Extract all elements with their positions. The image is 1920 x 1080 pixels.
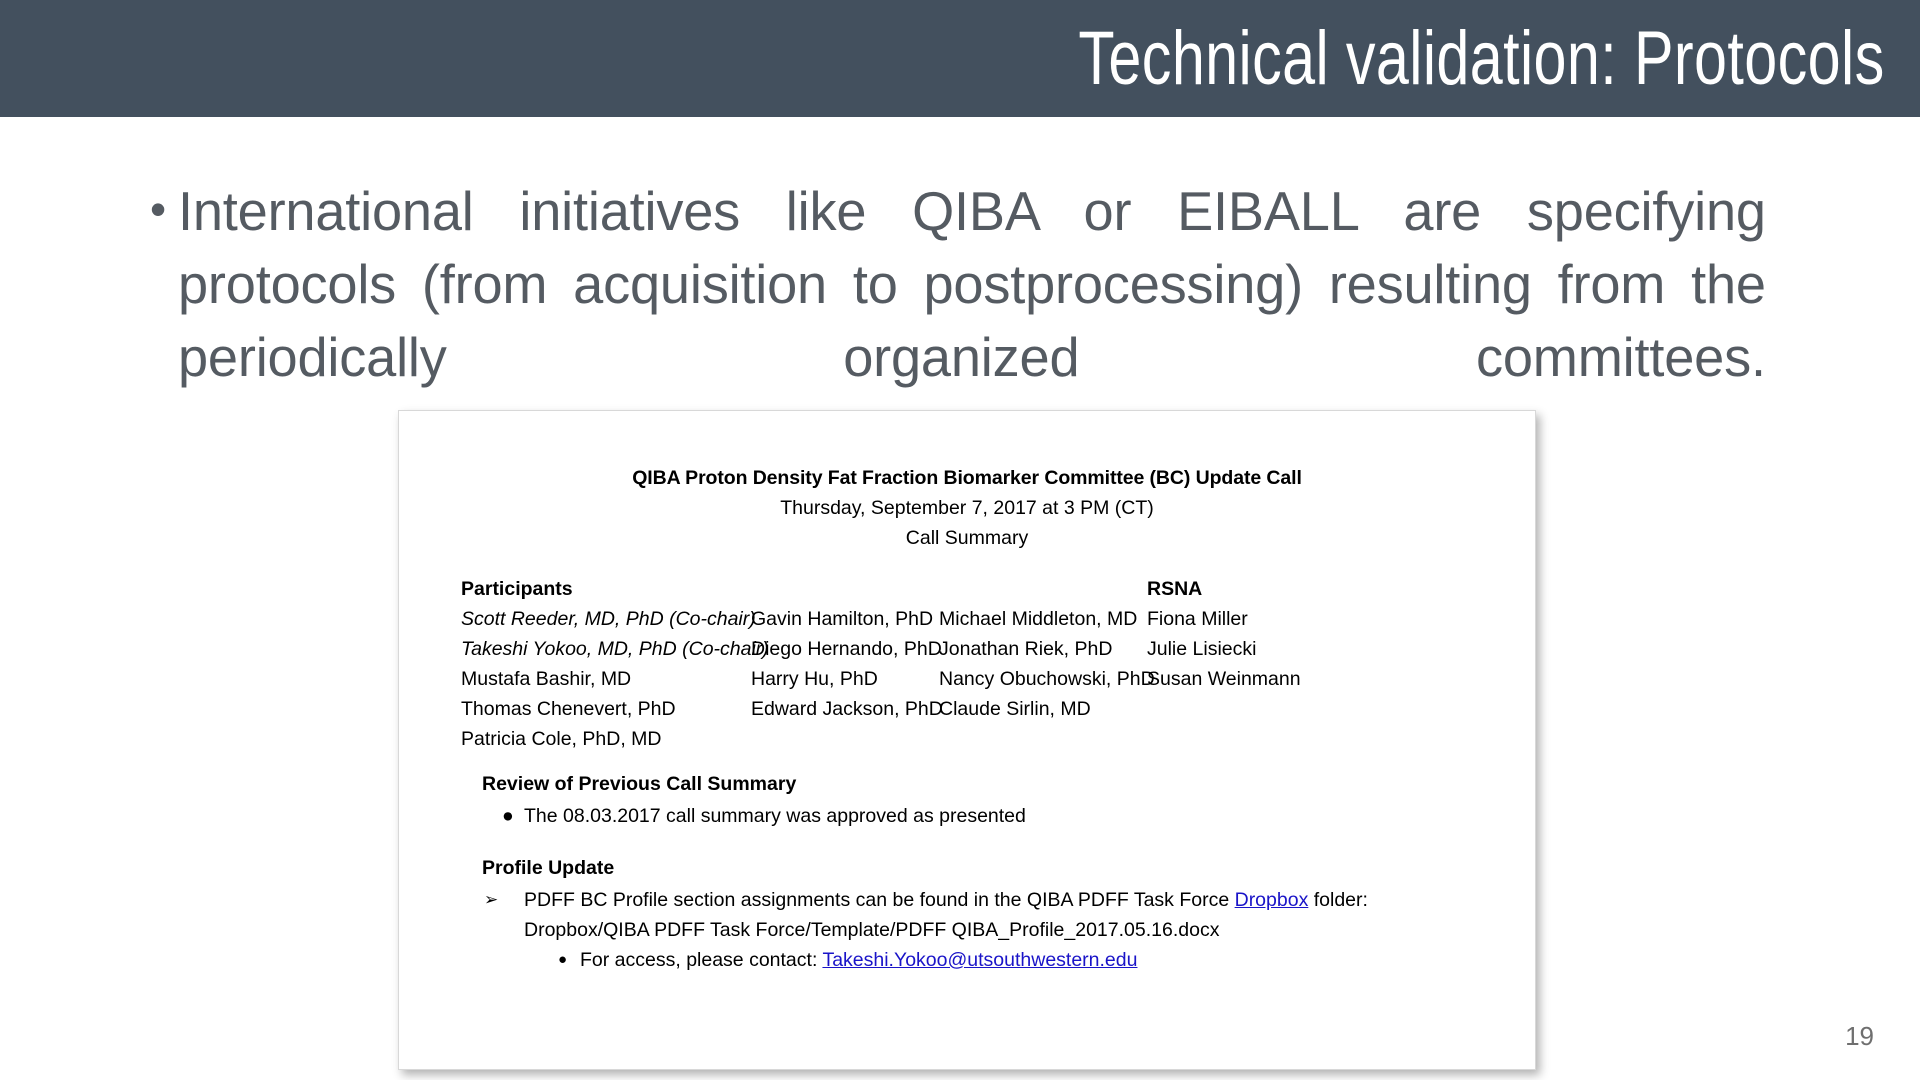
profile-item-path: Dropbox/QIBA PDFF Task Force/Template/PD…	[482, 915, 1502, 945]
participants-block: Participants Scott Reeder, MD, PhD (Co-c…	[461, 574, 1471, 754]
arrow-bullet-icon: ➢	[482, 885, 524, 915]
bullet-dot-icon: ●	[482, 801, 524, 831]
participant-name: Thomas Chenevert, PhD	[461, 694, 751, 724]
review-list-item: ● The 08.03.2017 call summary was approv…	[482, 801, 1502, 831]
profile-list-item: ➢ PDFF BC Profile section assignments ca…	[482, 885, 1502, 915]
profile-sub-list-item: ● For access, please contact: Takeshi.Yo…	[482, 945, 1502, 975]
slide-title-bar: Technical validation: Protocols	[0, 0, 1920, 117]
participant-name: Gavin Hamilton, PhD	[751, 604, 939, 634]
profile-item-suffix: folder:	[1308, 889, 1368, 911]
dropbox-link[interactable]: Dropbox	[1235, 889, 1309, 911]
profile-section: Profile Update ➢ PDFF BC Profile section…	[482, 853, 1502, 975]
participants-column-rsna: RSNA Fiona Miller Julie Lisiecki Susan W…	[1147, 574, 1357, 694]
profile-item-prefix: PDFF BC Profile section assignments can …	[524, 889, 1235, 911]
participant-name: Fiona Miller	[1147, 604, 1357, 634]
participant-name: Edward Jackson, PhD	[751, 694, 939, 724]
review-section: Review of Previous Call Summary ● The 08…	[482, 769, 1502, 831]
participant-name: Diego Hernando, PhD	[751, 634, 939, 664]
document-title: QIBA Proton Density Fat Fraction Biomark…	[399, 463, 1535, 493]
bullet-dot-icon: ●	[482, 945, 580, 975]
participant-name: Mustafa Bashir, MD	[461, 664, 751, 694]
rsna-heading: RSNA	[1147, 574, 1357, 604]
participant-name: Patricia Cole, PhD, MD	[461, 724, 751, 754]
participants-heading: Participants	[461, 574, 751, 604]
document-header: QIBA Proton Density Fat Fraction Biomark…	[399, 411, 1535, 553]
participant-name: Michael Middleton, MD	[939, 604, 1147, 634]
profile-list-item-text: PDFF BC Profile section assignments can …	[524, 885, 1502, 915]
bullet-dot-icon: •	[150, 173, 178, 246]
participant-name: Harry Hu, PhD	[751, 664, 939, 694]
page-title: Technical validation: Protocols	[1079, 21, 1885, 97]
profile-sub-item-prefix: For access, please contact:	[580, 949, 822, 971]
participant-name: Julie Lisiecki	[1147, 634, 1357, 664]
participants-column-2: Gavin Hamilton, PhD Diego Hernando, PhD …	[751, 574, 939, 724]
participants-column-1: Participants Scott Reeder, MD, PhD (Co-c…	[461, 574, 751, 754]
profile-section-heading: Profile Update	[482, 853, 1502, 883]
participant-name: Nancy Obuchowski, PhD	[939, 664, 1147, 694]
review-section-heading: Review of Previous Call Summary	[482, 769, 1502, 799]
document-sections: Review of Previous Call Summary ● The 08…	[482, 769, 1502, 975]
document-summary-label: Call Summary	[399, 523, 1535, 553]
embedded-document-image: QIBA Proton Density Fat Fraction Biomark…	[398, 410, 1536, 1070]
participant-name: Claude Sirlin, MD	[939, 694, 1147, 724]
review-list-item-text: The 08.03.2017 call summary was approved…	[524, 801, 1502, 831]
document-subtitle: Thursday, September 7, 2017 at 3 PM (CT)	[399, 493, 1535, 523]
participant-name: Scott Reeder, MD, PhD (Co-chair)	[461, 604, 751, 634]
page-number: 19	[1845, 1021, 1874, 1052]
participants-column-3: Michael Middleton, MD Jonathan Riek, PhD…	[939, 574, 1147, 724]
section-gap	[482, 831, 1502, 853]
profile-sub-item-text: For access, please contact: Takeshi.Yoko…	[580, 945, 1502, 975]
email-link[interactable]: Takeshi.Yokoo@utsouthwestern.edu	[822, 949, 1137, 971]
participant-name: Takeshi Yokoo, MD, PhD (Co-chair)	[461, 634, 751, 664]
participant-name: Susan Weinmann	[1147, 664, 1357, 694]
participant-name: Jonathan Riek, PhD	[939, 634, 1147, 664]
